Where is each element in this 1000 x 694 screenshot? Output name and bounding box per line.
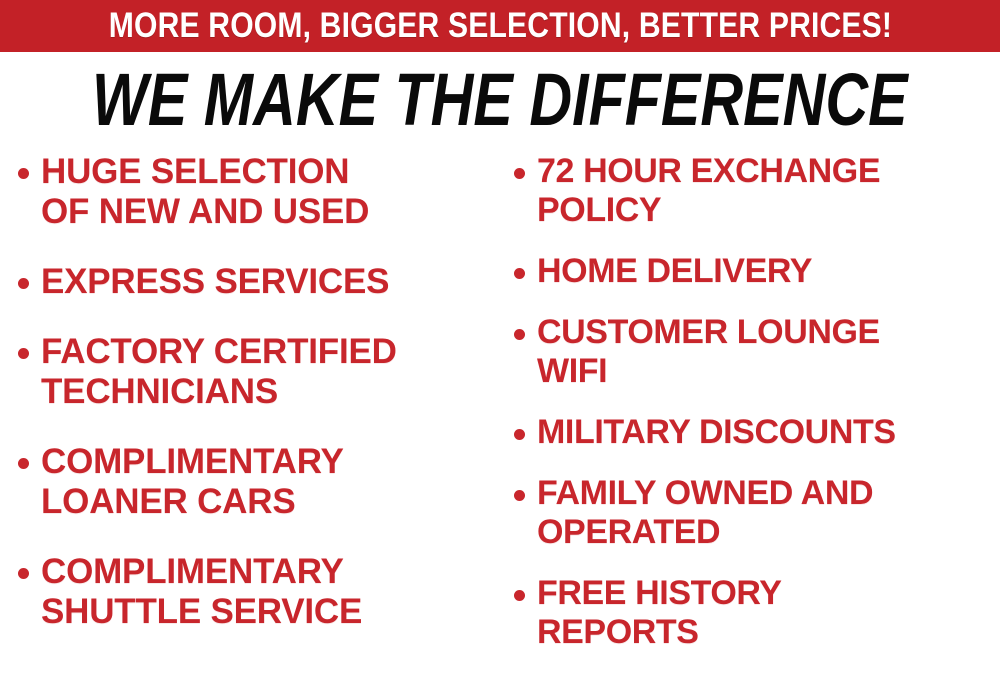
list-item-label: HOME DELIVERY — [537, 252, 812, 291]
features-column-left: HUGE SELECTION OF NEW AND USED EXPRESS S… — [0, 152, 500, 662]
list-item-label: COMPLIMENTARY LOANER CARS — [41, 442, 344, 522]
bullet-dot-icon — [18, 278, 29, 289]
bullet-dot-icon — [514, 590, 525, 601]
list-item: MILITARY DISCOUNTS — [514, 413, 998, 452]
promo-banner: MORE ROOM, BIGGER SELECTION, BETTER PRIC… — [0, 0, 1000, 52]
bullet-dot-icon — [514, 329, 525, 340]
list-item-label: HUGE SELECTION OF NEW AND USED — [41, 152, 369, 232]
list-item: FAMILY OWNED AND OPERATED — [514, 474, 998, 552]
list-item: COMPLIMENTARY SHUTTLE SERVICE — [18, 552, 494, 632]
bullet-dot-icon — [514, 490, 525, 501]
list-item-label: FACTORY CERTIFIED TECHNICIANS — [41, 332, 397, 412]
bullet-dot-icon — [18, 168, 29, 179]
list-item: 72 HOUR EXCHANGE POLICY — [514, 152, 998, 230]
bullet-dot-icon — [514, 268, 525, 279]
page-title: WE MAKE THE DIFFERENCE — [92, 66, 908, 134]
list-item: CUSTOMER LOUNGE WIFI — [514, 313, 998, 391]
list-item-label: 72 HOUR EXCHANGE POLICY — [537, 152, 880, 230]
bullet-dot-icon — [514, 429, 525, 440]
features-column-right: 72 HOUR EXCHANGE POLICY HOME DELIVERY CU… — [500, 152, 1000, 674]
list-item-label: EXPRESS SERVICES — [41, 262, 389, 302]
list-item-label: FREE HISTORY REPORTS — [537, 574, 782, 652]
list-item: HUGE SELECTION OF NEW AND USED — [18, 152, 494, 232]
bullet-dot-icon — [514, 168, 525, 179]
list-item: FREE HISTORY REPORTS — [514, 574, 998, 652]
bullet-dot-icon — [18, 348, 29, 359]
features-columns: HUGE SELECTION OF NEW AND USED EXPRESS S… — [0, 152, 1000, 694]
promo-banner-text: MORE ROOM, BIGGER SELECTION, BETTER PRIC… — [108, 8, 891, 44]
list-item-label: MILITARY DISCOUNTS — [537, 413, 896, 452]
list-item-label: FAMILY OWNED AND OPERATED — [537, 474, 873, 552]
list-item-label: COMPLIMENTARY SHUTTLE SERVICE — [41, 552, 362, 632]
list-item: FACTORY CERTIFIED TECHNICIANS — [18, 332, 494, 412]
list-item: HOME DELIVERY — [514, 252, 998, 291]
list-item: EXPRESS SERVICES — [18, 262, 494, 302]
list-item: COMPLIMENTARY LOANER CARS — [18, 442, 494, 522]
bullet-dot-icon — [18, 568, 29, 579]
list-item-label: CUSTOMER LOUNGE WIFI — [537, 313, 880, 391]
headline-container: WE MAKE THE DIFFERENCE — [0, 66, 1000, 134]
bullet-dot-icon — [18, 458, 29, 469]
